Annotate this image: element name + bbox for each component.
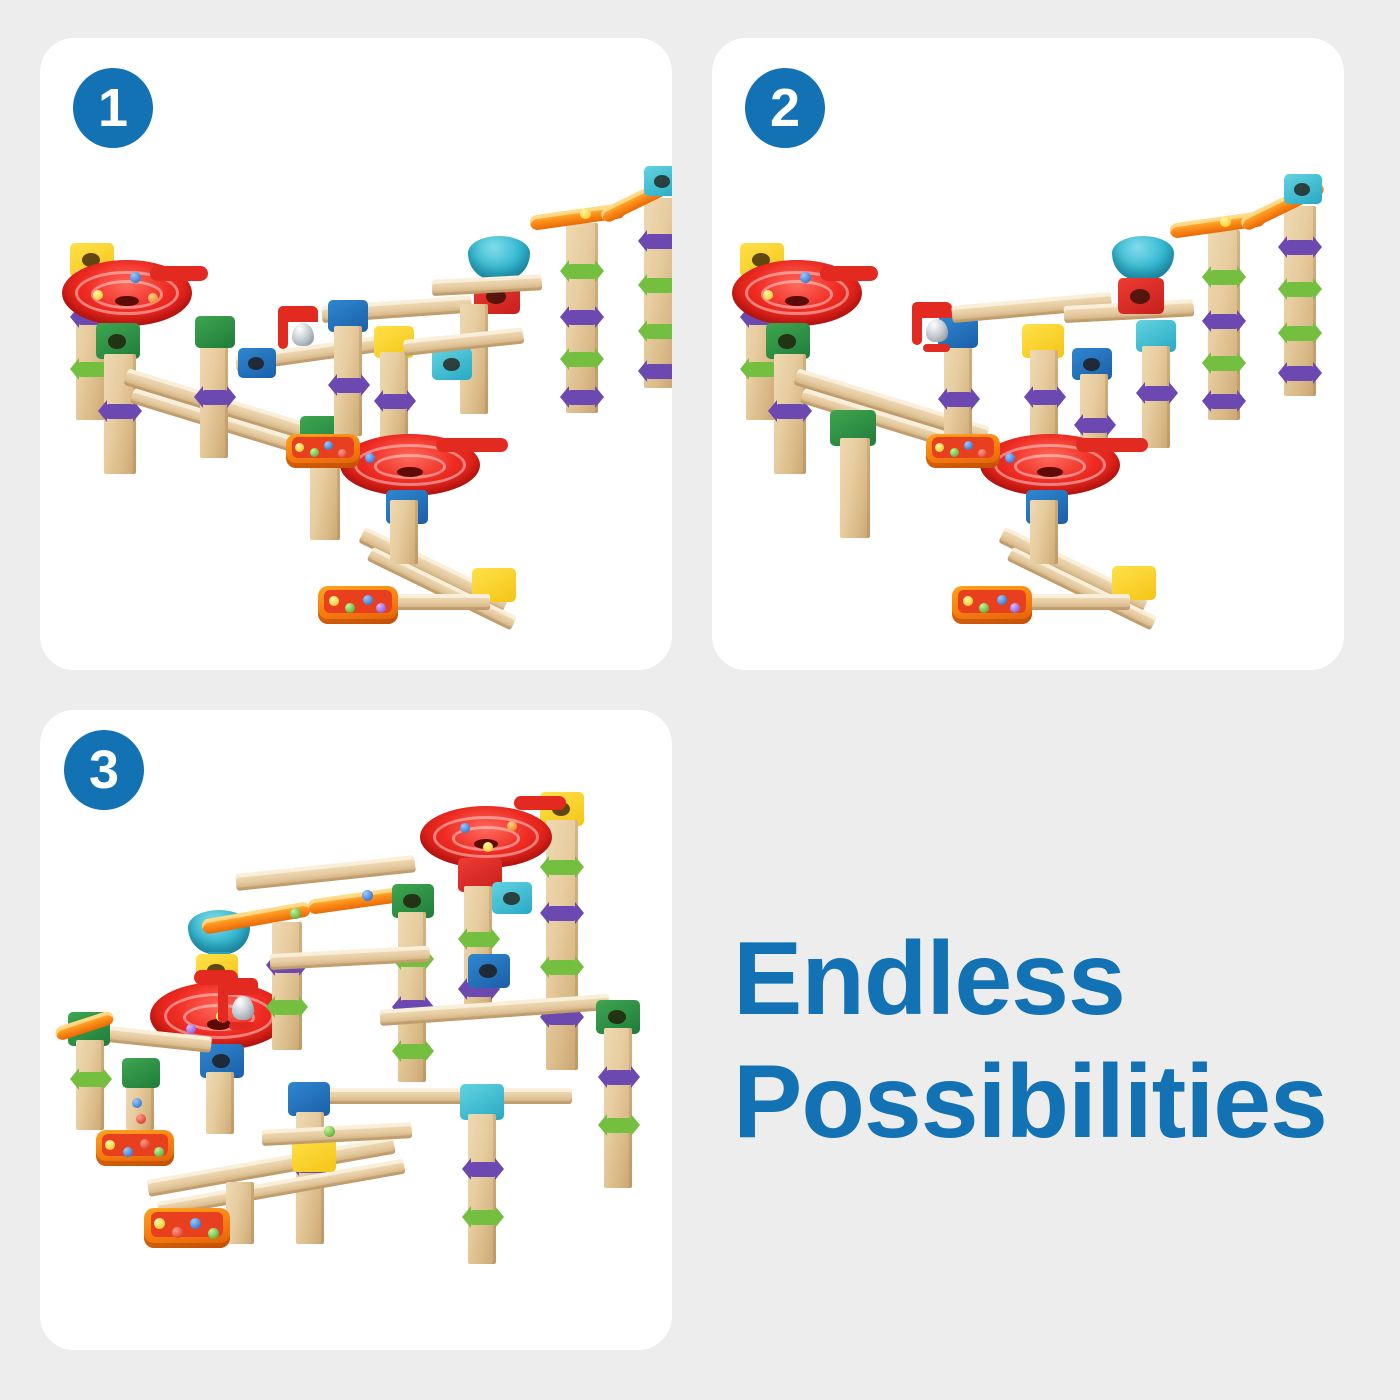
marble-hole bbox=[1294, 183, 1310, 196]
marble-run-photo-3 bbox=[40, 710, 672, 1350]
teal-cube-connector bbox=[432, 348, 472, 380]
glass-marble bbox=[963, 596, 973, 606]
green-bowtie-connector bbox=[466, 932, 492, 947]
wood-rail bbox=[235, 855, 416, 891]
green-bowtie-connector bbox=[548, 860, 576, 875]
marble-hole bbox=[479, 964, 497, 978]
purple-bowtie-connector bbox=[568, 390, 596, 405]
step-card-3[interactable]: 3 bbox=[40, 710, 672, 1350]
green-bowtie-connector bbox=[274, 1000, 300, 1015]
glass-marble bbox=[979, 603, 989, 613]
glass-marble bbox=[460, 823, 470, 833]
purple-bowtie-connector bbox=[106, 404, 134, 419]
glass-marble bbox=[362, 890, 373, 901]
teal-cone-funnel bbox=[468, 236, 530, 280]
marble-hole bbox=[248, 357, 264, 370]
glass-marble bbox=[338, 449, 347, 458]
bell-dome bbox=[292, 323, 314, 346]
marble-tray bbox=[144, 1208, 230, 1248]
marble-hole bbox=[108, 334, 126, 349]
bell-dome bbox=[232, 996, 254, 1020]
wood-block bbox=[390, 500, 418, 564]
marble-hole bbox=[1083, 358, 1100, 371]
purple-bowtie-connector bbox=[646, 364, 672, 379]
headline-line-1: Endless bbox=[733, 918, 1353, 1041]
glass-marble bbox=[997, 595, 1007, 605]
purple-bowtie-connector bbox=[946, 392, 972, 407]
purple-bowtie-connector bbox=[1286, 366, 1314, 381]
bell-base bbox=[923, 344, 950, 352]
promo-layout: 1 bbox=[0, 0, 1400, 1400]
marble-tray bbox=[96, 1130, 174, 1166]
wood-block bbox=[272, 922, 302, 1050]
purple-bowtie-connector bbox=[470, 1162, 496, 1177]
glass-marble bbox=[208, 1228, 219, 1239]
glass-marble bbox=[935, 443, 944, 452]
funnel-drain bbox=[115, 296, 138, 307]
glass-marble bbox=[190, 1218, 201, 1229]
glass-marble bbox=[950, 448, 959, 457]
blue-cube-connector bbox=[288, 1082, 330, 1116]
marble-tray bbox=[286, 434, 360, 468]
blue-cube-connector bbox=[468, 954, 510, 988]
glass-marble bbox=[186, 1024, 196, 1034]
green-bowtie-connector bbox=[748, 362, 776, 377]
purple-bowtie-connector bbox=[1210, 314, 1238, 329]
teal-cone-funnel bbox=[1112, 236, 1174, 280]
purple-bowtie-connector bbox=[336, 378, 362, 393]
purple-bowtie-connector bbox=[1210, 394, 1238, 409]
wood-block bbox=[468, 1114, 496, 1264]
purple-bowtie-connector bbox=[1082, 418, 1108, 433]
purple-bowtie-connector bbox=[548, 906, 576, 921]
glass-marble bbox=[978, 449, 987, 458]
marble-hole bbox=[608, 1010, 626, 1024]
glass-marble bbox=[290, 908, 301, 919]
wood-rail bbox=[292, 1088, 572, 1104]
green-bowtie-connector bbox=[646, 278, 672, 293]
glass-marble bbox=[123, 1147, 133, 1157]
teal-cube-connector bbox=[1284, 174, 1322, 204]
glass-marble bbox=[329, 596, 339, 606]
step-badge-1: 1 bbox=[73, 68, 153, 148]
marble-hole bbox=[443, 358, 460, 371]
funnel-spout bbox=[1076, 438, 1148, 452]
purple-bowtie-connector bbox=[1032, 390, 1058, 405]
funnel-spout bbox=[150, 266, 208, 281]
wood-block bbox=[840, 438, 870, 538]
green-bowtie-connector bbox=[1210, 270, 1238, 285]
wood-block bbox=[644, 198, 672, 388]
glass-marble bbox=[154, 1147, 164, 1157]
green-bowtie-connector bbox=[646, 324, 672, 339]
green-bowtie-connector bbox=[548, 960, 576, 975]
purple-bowtie-connector bbox=[646, 234, 672, 249]
funnel-drain bbox=[785, 296, 808, 307]
marble-tray bbox=[952, 586, 1032, 624]
wood-block bbox=[1030, 500, 1058, 564]
purple-bowtie-connector bbox=[606, 1070, 632, 1085]
promo-headline: Endless Possibilities bbox=[733, 918, 1353, 1163]
blue-cube-connector bbox=[238, 348, 276, 378]
glass-marble bbox=[140, 1139, 150, 1149]
marble-tray bbox=[318, 586, 398, 624]
marble-hole bbox=[654, 175, 670, 188]
green-cube-connector bbox=[195, 316, 235, 348]
glass-marble bbox=[1220, 216, 1231, 227]
red-cube-connector bbox=[1118, 278, 1164, 314]
purple-bowtie-connector bbox=[1144, 386, 1170, 401]
glass-marble bbox=[295, 443, 304, 452]
funnel-spout bbox=[514, 796, 566, 810]
glass-marble bbox=[1005, 453, 1015, 463]
purple-bowtie-connector bbox=[568, 310, 596, 325]
glass-marble bbox=[580, 208, 591, 219]
red-spiral-funnel bbox=[62, 260, 192, 326]
green-bowtie-connector bbox=[1210, 356, 1238, 371]
green-bowtie-connector bbox=[606, 1118, 632, 1133]
bell-chime bbox=[218, 978, 258, 1030]
glass-marble bbox=[345, 603, 355, 613]
purple-bowtie-connector bbox=[776, 404, 804, 419]
headline-line-2: Possibilities bbox=[733, 1041, 1353, 1164]
red-spiral-funnel bbox=[340, 434, 480, 496]
purple-bowtie-connector bbox=[202, 390, 228, 405]
funnel-spout bbox=[820, 266, 878, 281]
bell-base bbox=[229, 1022, 256, 1030]
bell-arm bbox=[218, 978, 258, 995]
bell-arm bbox=[912, 302, 952, 318]
wood-block bbox=[604, 1028, 632, 1188]
marble-hole bbox=[778, 334, 796, 349]
green-bowtie-connector bbox=[78, 362, 106, 377]
wood-block bbox=[464, 886, 492, 1018]
bell-arm bbox=[278, 306, 318, 322]
funnel-cup bbox=[468, 236, 530, 280]
glass-marble bbox=[365, 453, 375, 463]
wood-block bbox=[206, 1072, 234, 1134]
purple-bowtie-connector bbox=[1286, 240, 1314, 255]
marble-hole bbox=[403, 894, 421, 908]
glass-marble bbox=[324, 1126, 335, 1137]
teal-cube-connector bbox=[644, 166, 672, 196]
wood-block bbox=[226, 1182, 254, 1244]
funnel-spout bbox=[436, 438, 508, 452]
bell-dome bbox=[926, 319, 948, 342]
green-bowtie-connector bbox=[78, 1072, 104, 1087]
marble-hole bbox=[503, 892, 520, 905]
glass-marble bbox=[130, 272, 141, 283]
glass-marble bbox=[172, 1227, 183, 1238]
green-bowtie-connector bbox=[1286, 326, 1314, 341]
step-badge-3: 3 bbox=[64, 730, 144, 810]
glass-marble bbox=[800, 272, 811, 283]
teal-cube-connector bbox=[492, 882, 532, 914]
bell-chime bbox=[912, 302, 952, 352]
red-spiral-funnel bbox=[980, 434, 1120, 496]
glass-marble bbox=[136, 1114, 146, 1124]
glass-marble bbox=[148, 293, 158, 303]
glass-marble bbox=[310, 448, 319, 457]
red-spiral-funnel bbox=[732, 260, 862, 326]
glass-marble bbox=[132, 1098, 142, 1108]
green-cube-connector bbox=[122, 1058, 160, 1088]
green-bowtie-connector bbox=[1286, 282, 1314, 297]
step-card-2[interactable]: 2 bbox=[712, 38, 1344, 670]
marble-tray bbox=[926, 434, 1000, 468]
green-bowtie-connector bbox=[568, 264, 596, 279]
glass-marble bbox=[507, 821, 517, 831]
glass-marble bbox=[363, 595, 373, 605]
step-badge-2: 2 bbox=[745, 68, 825, 148]
green-bowtie-connector bbox=[470, 1210, 496, 1225]
green-bowtie-connector bbox=[400, 1044, 426, 1059]
green-bowtie-connector bbox=[568, 352, 596, 367]
step-card-1[interactable]: 1 bbox=[40, 38, 672, 670]
funnel-cup bbox=[1112, 236, 1174, 280]
purple-bowtie-connector bbox=[382, 394, 408, 409]
wood-rail bbox=[432, 274, 543, 296]
marble-hole bbox=[212, 1054, 230, 1068]
marble-hole bbox=[1130, 289, 1149, 304]
